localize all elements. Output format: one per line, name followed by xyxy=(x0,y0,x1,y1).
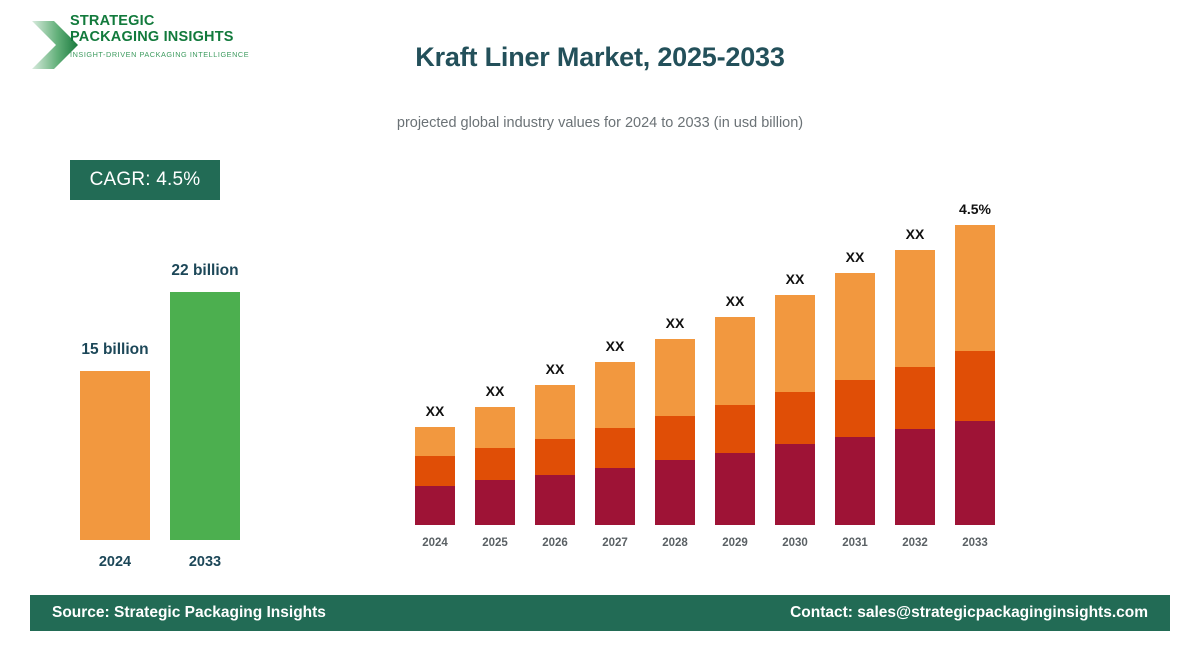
endpoint-comparison-chart: 15 billion202422 billion2033 xyxy=(55,230,285,570)
chart-page: STRATEGIC PACKAGING INSIGHTS INSIGHT-DRI… xyxy=(0,0,1200,650)
stacked-bar-group: XX2026 xyxy=(535,385,575,525)
stacked-bar-segment xyxy=(415,486,455,525)
stacked-bar-group: XX2031 xyxy=(835,273,875,525)
stacked-bar-segment xyxy=(535,439,575,475)
comparison-bar xyxy=(80,371,150,540)
comparison-bar xyxy=(170,292,240,540)
stacked-bar-segment xyxy=(655,416,695,460)
stacked-bar-value-label: XX xyxy=(625,315,725,331)
stacked-bar-segment xyxy=(835,437,875,525)
stacked-bar-segment xyxy=(655,460,695,525)
stacked-bar-group: XX2032 xyxy=(895,250,935,525)
stacked-bar-value-label: XX xyxy=(805,249,905,265)
stacked-bar-segment xyxy=(535,385,575,439)
stacked-bar-value-label: XX xyxy=(865,226,965,242)
cagr-badge: CAGR: 4.5% xyxy=(70,160,220,200)
stacked-bar-group: XX2025 xyxy=(475,407,515,525)
stacked-bar-segment xyxy=(895,367,935,429)
stacked-bar-segment xyxy=(955,351,995,421)
stacked-bar-segment xyxy=(775,295,815,392)
comparison-bar-value-label: 15 billion xyxy=(50,341,180,359)
stacked-bar-group: XX2030 xyxy=(775,295,815,525)
stacked-bar-segment xyxy=(715,405,755,453)
stacked-bar-group: XX2024 xyxy=(415,427,455,525)
stacked-bar-segment xyxy=(655,339,695,416)
stacked-bar-value-label: 4.5% xyxy=(925,201,1025,217)
stacked-bar-group: XX2029 xyxy=(715,317,755,525)
stacked-bar-segment xyxy=(955,421,995,525)
stacked-bar-segment xyxy=(595,428,635,468)
stacked-bar-segment xyxy=(715,317,755,405)
footer-source-label: Source: Strategic Packaging Insights xyxy=(52,604,326,622)
stacked-bar-segment xyxy=(715,453,755,525)
page-title: Kraft Liner Market, 2025-2033 xyxy=(0,42,1200,73)
footer-bar: Source: Strategic Packaging Insights Con… xyxy=(30,595,1170,631)
brand-logo-line1: STRATEGIC xyxy=(70,14,270,30)
page-subtitle: projected global industry values for 202… xyxy=(0,115,1200,131)
stacked-bar-value-label: XX xyxy=(685,293,785,309)
stacked-bar-segment xyxy=(835,273,875,380)
stacked-bar-segment xyxy=(475,448,515,480)
stacked-bar-value-label: XX xyxy=(745,271,845,287)
stacked-bar-segment xyxy=(475,407,515,448)
stacked-bar-group: XX2028 xyxy=(655,339,695,525)
stacked-bar-value-label: XX xyxy=(565,338,665,354)
stacked-bar-segment xyxy=(835,380,875,437)
stacked-bar-x-label: 2033 xyxy=(925,537,1025,549)
stacked-bar-segment xyxy=(595,362,635,428)
stacked-bar-value-label: XX xyxy=(505,361,605,377)
stacked-bar-segment xyxy=(895,250,935,367)
stacked-bar-group: XX2027 xyxy=(595,362,635,525)
stacked-bar-segment xyxy=(535,475,575,525)
footer-contact-label: Contact: sales@strategicpackaginginsight… xyxy=(790,604,1148,622)
stacked-bar-group: 4.5%2033 xyxy=(955,225,995,525)
cagr-badge-label: CAGR: 4.5% xyxy=(90,169,201,191)
stacked-bar-value-label: XX xyxy=(445,383,545,399)
stacked-bar-segment xyxy=(475,480,515,525)
comparison-bar-x-label: 2033 xyxy=(140,554,270,570)
stacked-bar-segment xyxy=(955,225,995,351)
comparison-bar-value-label: 22 billion xyxy=(140,262,270,280)
stacked-bar-segment xyxy=(415,427,455,456)
stacked-bar-value-label: XX xyxy=(385,403,485,419)
stacked-bar-segment xyxy=(775,444,815,525)
segmented-forecast-chart: XX2024XX2025XX2026XX2027XX2028XX2029XX20… xyxy=(400,190,1040,555)
stacked-bar-segment xyxy=(415,456,455,486)
stacked-bar-segment xyxy=(775,392,815,444)
stacked-bar-segment xyxy=(595,468,635,525)
stacked-bar-segment xyxy=(895,429,935,525)
